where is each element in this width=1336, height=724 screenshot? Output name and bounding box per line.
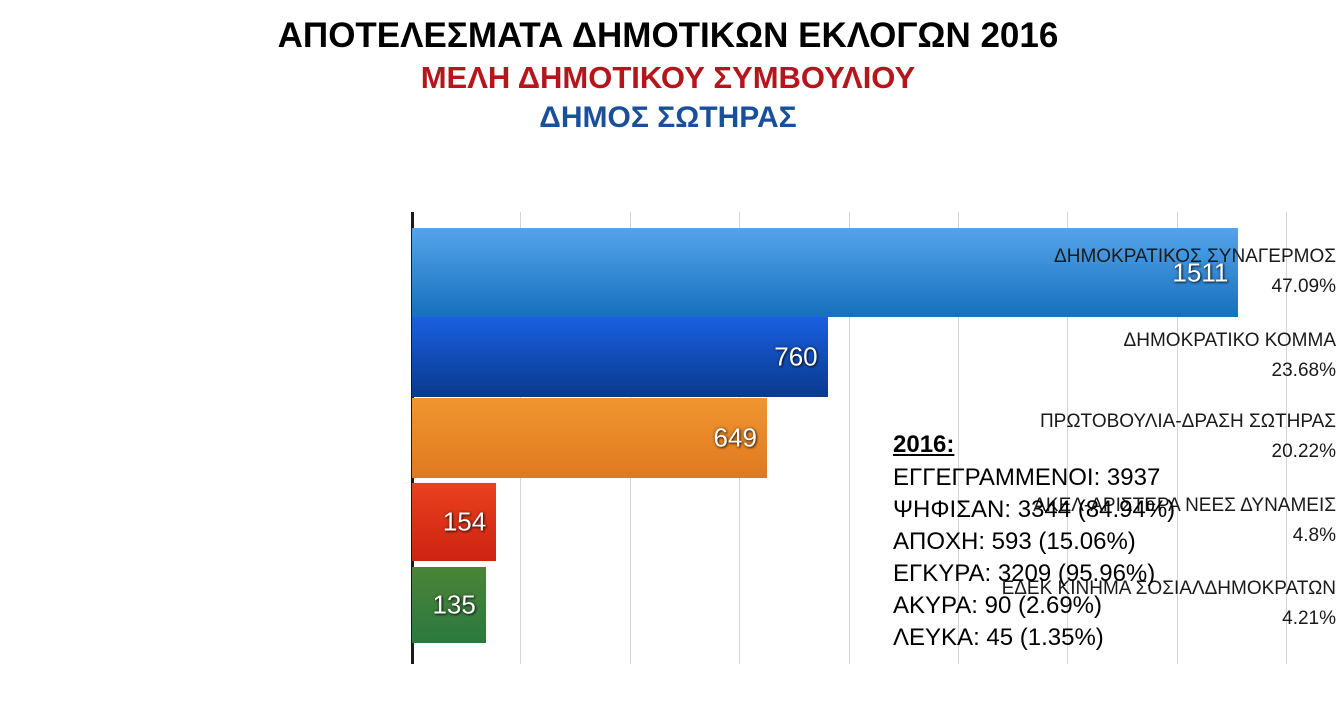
statistic-line-4: ΕΓΚΥΡΑ: 3209 (95.96%)	[893, 558, 1223, 590]
party-name: ΔΗΜΟΚΡΑΤΙΚΟΣ ΣΥΝΑΓΕΡΜΟΣ	[1054, 246, 1336, 267]
bar-value-label: 135	[432, 590, 475, 621]
statistic-line-1: ΕΓΓΕΓΡΑΜΜΕΝΟΙ: 3937	[893, 462, 1223, 494]
statistics-lines: ΕΓΓΕΓΡΑΜΜΕΝΟΙ: 3937ΨΗΦΙΣΑΝ: 3344 (84.94%…	[893, 462, 1223, 654]
bar-fill	[412, 317, 828, 397]
bar-3[interactable]: 649	[412, 398, 767, 478]
bar-4[interactable]: 154	[412, 483, 496, 561]
bar-value-label: 154	[443, 507, 486, 538]
category-label-2: ΔΗΜΟΚΡΑΤΙΚΟ ΚΟΜΜΑ23.68%	[941, 326, 1336, 386]
statistics-year-heading: 2016:	[893, 428, 1223, 462]
party-name: ΔΗΜΟΚΡΑΤΙΚΟ ΚΟΜΜΑ	[1124, 330, 1336, 351]
bar-value-label: 649	[714, 423, 757, 454]
bar-value-label: 760	[774, 342, 817, 373]
party-percent: 47.09%	[941, 272, 1336, 302]
party-percent: 23.68%	[941, 356, 1336, 386]
statistic-line-3: ΑΠΟΧΗ: 593 (15.06%)	[893, 526, 1223, 558]
category-label-1: ΔΗΜΟΚΡΑΤΙΚΟΣ ΣΥΝΑΓΕΡΜΟΣ47.09%	[941, 242, 1336, 302]
bar-5[interactable]: 135	[412, 567, 486, 643]
statistic-line-5: ΑΚΥΡΑ: 90 (2.69%)	[893, 590, 1223, 622]
statistic-line-2: ΨΗΦΙΣΑΝ: 3344 (84.94%)	[893, 494, 1223, 526]
turnout-statistics-box: 2016: ΕΓΓΕΓΡΑΜΜΕΝΟΙ: 3937ΨΗΦΙΣΑΝ: 3344 (…	[893, 428, 1223, 654]
statistic-line-6: ΛΕΥΚΑ: 45 (1.35%)	[893, 622, 1223, 654]
bar-2[interactable]: 760	[412, 317, 828, 397]
